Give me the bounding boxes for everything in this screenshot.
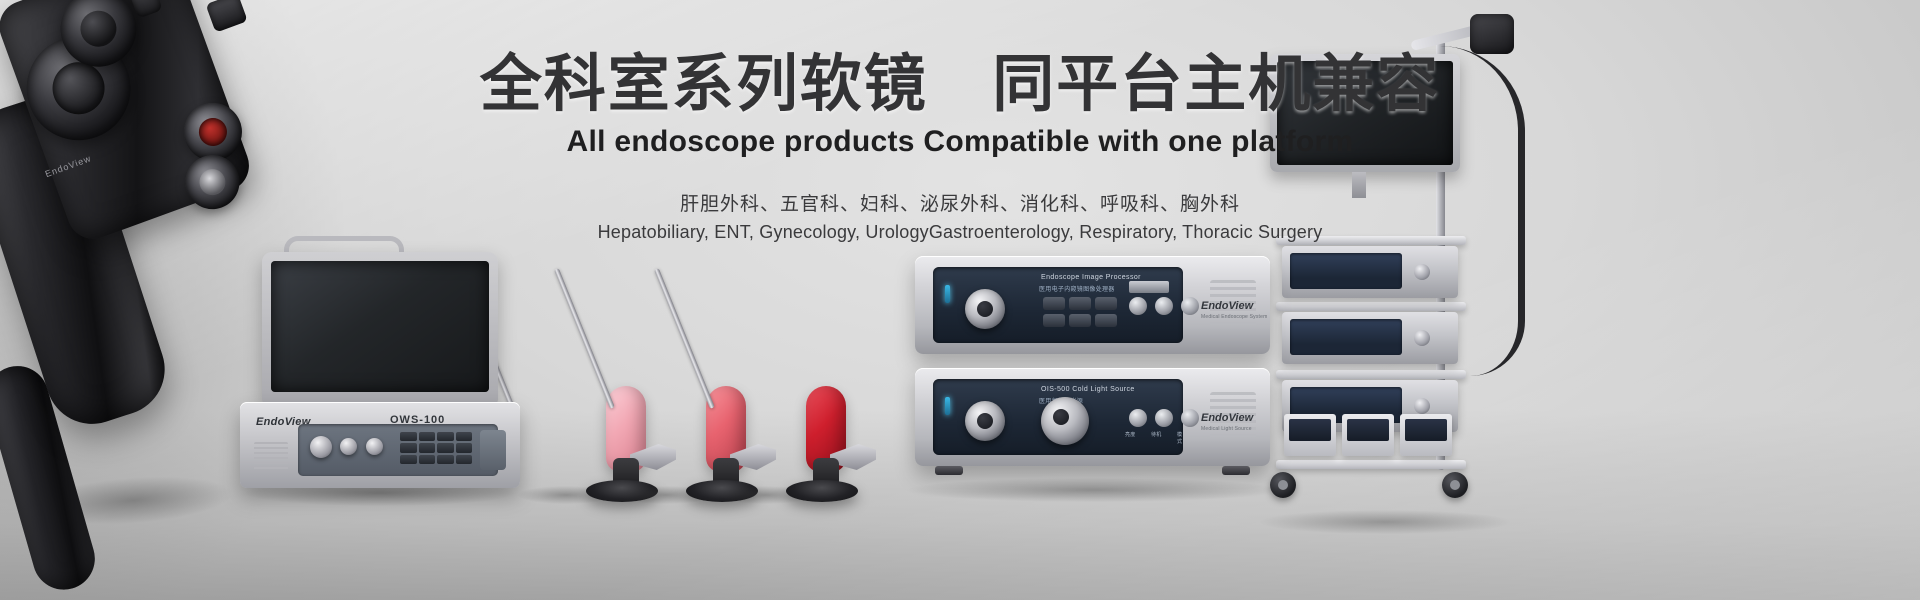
headline-part-two: 同平台主机兼容: [992, 50, 1440, 119]
rigid-scope-stand: [786, 480, 858, 502]
workstation-vents: [254, 442, 288, 472]
scope-image-button: [206, 0, 248, 33]
console-stack: Endoscope Image Processor 医用电子内窥镜图像处理器 E…: [915, 256, 1270, 486]
rigid-scope-crimson: [710, 258, 860, 498]
departments-english: Hepatobiliary, ENT, Gynecology, UrologyG…: [0, 222, 1920, 243]
image-processor-unit: Endoscope Image Processor 医用电子内窥镜图像处理器 E…: [915, 256, 1270, 354]
power-led: [945, 397, 950, 415]
trolley-small-unit-one: [1284, 414, 1336, 456]
workstation-display-bezel: [262, 252, 498, 404]
marketing-banner: EndoView EndoView OWS-100: [0, 0, 1920, 600]
trolley-device-knob: [1414, 398, 1430, 414]
headline-part-one: 全科室系列软镜: [480, 50, 928, 119]
light-source-button-three: [1181, 409, 1199, 427]
trolley-small-unit-panel: [1347, 419, 1389, 441]
light-source-brightness-dial: [1041, 397, 1089, 445]
image-processor-usb-port: [1129, 281, 1169, 293]
image-processor-brand-sub: Medical Endoscope System: [1201, 314, 1268, 320]
headline: 全科室系列软镜 同平台主机兼容: [0, 52, 1920, 119]
trolley-device-middle: [1282, 312, 1458, 364]
power-led: [945, 285, 950, 303]
trolley-small-unit-two: [1342, 414, 1394, 456]
trolley-device-panel: [1290, 253, 1402, 289]
trolley-device-panel: [1290, 319, 1402, 355]
light-source-label-three: 模式: [1177, 431, 1183, 445]
trolley-scope-head: [1470, 14, 1514, 54]
workstation-keypad: [400, 432, 472, 464]
workstation-side-module: [480, 430, 506, 470]
image-processor-title-cn: 医用电子内窥镜图像处理器: [1039, 284, 1115, 293]
trolley-shelf: [1276, 370, 1466, 379]
trolley-device-knob: [1414, 330, 1430, 346]
image-processor-button-three: [1181, 297, 1199, 315]
banner-copy: 全科室系列软镜 同平台主机兼容 All endoscope products C…: [0, 52, 1920, 243]
workstation-base: EndoView OWS-100: [240, 402, 520, 488]
light-source-button-one: [1129, 409, 1147, 427]
workstation-button-two: [366, 438, 383, 455]
trolley-device-top: [1282, 246, 1458, 298]
light-source-title-en: OIS-500 Cold Light Source: [1041, 386, 1135, 393]
light-source-front-panel: OIS-500 Cold Light Source 医用氙灯冷光源 亮度 待机 …: [933, 379, 1183, 455]
trolley-small-unit-panel: [1405, 419, 1447, 441]
trolley-shelf: [1276, 460, 1466, 469]
light-source-label-two: 待机: [1151, 431, 1161, 438]
image-processor-title-en: Endoscope Image Processor: [1041, 274, 1141, 281]
console-stack-feet: [935, 466, 1250, 478]
image-processor-button-one: [1129, 297, 1147, 315]
workstation-screen: [271, 261, 489, 392]
subheadline-english: All endoscope products Compatible with o…: [0, 125, 1920, 159]
trolley-shadow: [1260, 510, 1510, 534]
workstation-knob-primary: [310, 436, 332, 458]
trolley-device-knob: [1414, 264, 1430, 280]
image-processor-front-panel: Endoscope Image Processor 医用电子内窥镜图像处理器: [933, 267, 1183, 343]
light-source-brand-sub: Medical Light Source: [1201, 426, 1252, 432]
trolley-small-unit-panel: [1289, 419, 1331, 441]
trolley-shelf: [1276, 302, 1466, 311]
endoscopy-workstation: EndoView OWS-100: [240, 252, 520, 492]
light-source-label-one: 亮度: [1125, 431, 1135, 438]
workstation-button-one: [340, 438, 357, 455]
image-processor-button-two: [1155, 297, 1173, 315]
image-processor-brand: EndoView: [1201, 300, 1253, 312]
light-source-main-dial: [965, 401, 1005, 441]
trolley-wheel-right: [1442, 472, 1468, 498]
console-stack-shadow: [909, 478, 1279, 502]
trolley-small-unit-three: [1400, 414, 1452, 456]
trolley-wheel-left: [1270, 472, 1296, 498]
light-source-brand: EndoView: [1201, 412, 1253, 424]
image-processor-main-dial: [965, 289, 1005, 329]
image-processor-keypad: [1043, 297, 1117, 327]
departments-chinese: 肝胆外科、五官科、妇科、泌尿外科、消化科、呼吸科、胸外科: [0, 189, 1920, 216]
light-source-button-two: [1155, 409, 1173, 427]
light-source-unit: OIS-500 Cold Light Source 医用氙灯冷光源 亮度 待机 …: [915, 368, 1270, 466]
